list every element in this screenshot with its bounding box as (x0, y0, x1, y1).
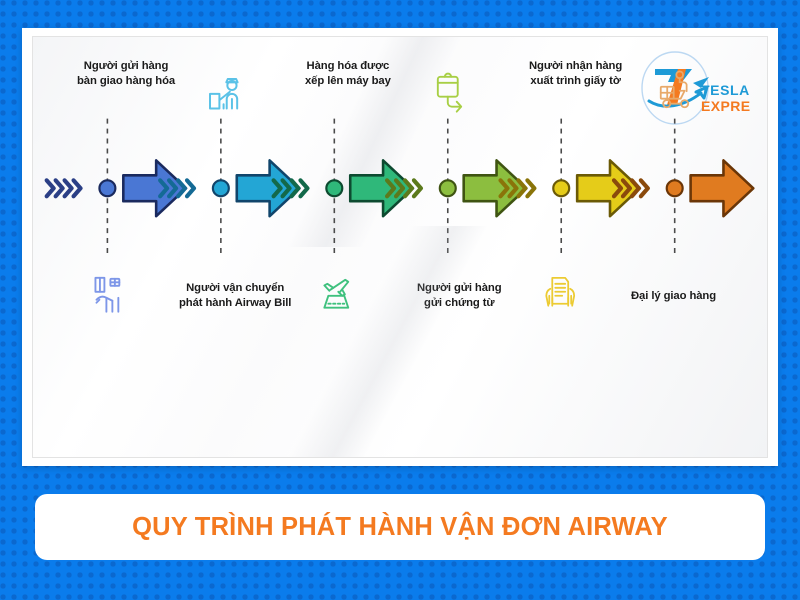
title-banner: QUY TRÌNH PHÁT HÀNH VẬN ĐƠN AIRWAY (35, 494, 765, 560)
step-label-6-line-1: Đại lý giao hàng (631, 289, 716, 304)
step-label-4-line-1: Người gửi hàng (417, 281, 502, 296)
step-label-2-line-1: Người vận chuyển (179, 281, 291, 296)
step-label-1-line-2: bàn giao hàng hóa (77, 74, 175, 89)
step-label-5: Người nhận hàng xuất trình giấy tờ (529, 59, 622, 89)
step-label-2-line-2: phát hành Airway Bill (179, 296, 291, 311)
step-label-5-line-1: Người nhận hàng (529, 59, 622, 74)
step-node-3 (326, 180, 342, 196)
step-node-2 (213, 180, 229, 196)
step-label-2: Người vận chuyển phát hành Airway Bill (179, 281, 291, 311)
step-label-1: Người gửi hàng bàn giao hàng hóa (77, 59, 175, 89)
step-label-3: Hàng hóa được xếp lên máy bay (305, 59, 391, 89)
step-label-3-line-2: xếp lên máy bay (305, 74, 391, 89)
step-label-5-line-2: xuất trình giấy tờ (529, 74, 622, 89)
plane-takeoff-icon (324, 280, 348, 308)
delivery-scooter-icon (661, 71, 688, 107)
step-label-1-line-1: Người gửi hàng (77, 59, 175, 74)
step-label-3-line-1: Hàng hóa được (305, 59, 391, 74)
infographic-card: TESLA EXPRESS (22, 28, 778, 466)
step-node-1 (99, 180, 115, 196)
package-arrow-icon (438, 74, 461, 112)
step-node-4 (440, 180, 456, 196)
counter-agent-icon (210, 79, 238, 108)
step-node-6 (667, 180, 683, 196)
hands-holding-document-icon (546, 278, 574, 306)
handover-package-icon (95, 278, 119, 312)
step-node-5 (553, 180, 569, 196)
step-label-4-line-2: gửi chứng từ (417, 296, 502, 311)
step-label-4: Người gửi hàng gửi chứng từ (417, 281, 502, 311)
process-timeline-diagram: Người gửi hàng bàn giao hàng hóa Hàng hó… (33, 37, 767, 457)
page-title: QUY TRÌNH PHÁT HÀNH VẬN ĐƠN AIRWAY (132, 513, 668, 542)
step-label-6: Đại lý giao hàng (631, 289, 716, 304)
infographic-card-inner: TESLA EXPRESS (32, 36, 768, 458)
